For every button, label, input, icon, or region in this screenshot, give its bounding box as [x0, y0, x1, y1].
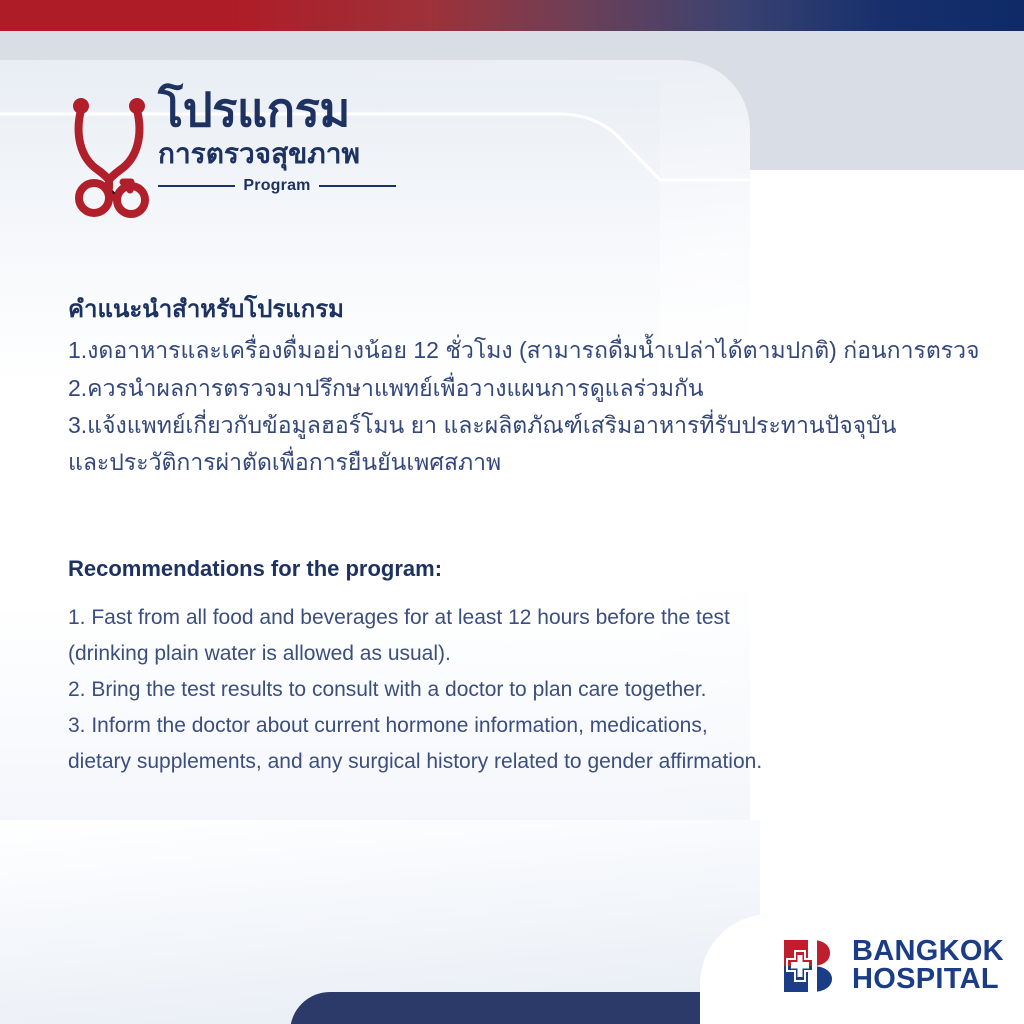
program-logo-thai-subtitle: การตรวจสุขภาพ: [158, 140, 398, 168]
thai-section-heading: คำแนะนำสำหรับโปรแกรม: [68, 294, 948, 326]
english-line-5: dietary supplements, and any surgical hi…: [68, 744, 948, 780]
bangkok-hospital-b-cross-icon: [782, 938, 840, 994]
thai-line-2: 2.ควรนำผลการตรวจมาปรึกษาแพทย์เพื่อวางแผน…: [68, 370, 948, 407]
program-logo-thai-title: โปรแกรม: [158, 86, 398, 133]
hospital-word-line1: BANGKOK: [852, 938, 1004, 966]
program-rule-left: [158, 185, 235, 187]
hospital-word-line2: HOSPITAL: [852, 966, 1004, 994]
english-section: Recommendations for the program: 1. Fast…: [68, 555, 948, 780]
program-logo-english-row: Program: [158, 177, 396, 195]
program-logo-english-word: Program: [243, 177, 310, 195]
thai-line-1: 1.งดอาหารและเครื่องดื่มอย่างน้อย 12 ชั่ว…: [68, 332, 948, 369]
english-line-2: (drinking plain water is allowed as usua…: [68, 636, 948, 672]
thai-line-3: 3.แจ้งแพทย์เกี่ยวกับข้อมูลฮอร์โมน ยา และ…: [68, 407, 948, 444]
bangkok-hospital-wordmark: BANGKOK HOSPITAL: [852, 938, 1004, 994]
stethoscope-gender-icon: [68, 86, 150, 218]
english-section-heading: Recommendations for the program:: [68, 555, 948, 584]
bottom-navy-bar: [290, 992, 750, 1024]
bangkok-hospital-logo: BANGKOK HOSPITAL: [782, 938, 1004, 994]
poster-canvas: โปรแกรม การตรวจสุขภาพ Program คำแนะนำสำห…: [0, 0, 1024, 1024]
english-line-3: 2. Bring the test results to consult wit…: [68, 672, 948, 708]
program-logo-text: โปรแกรม การตรวจสุขภาพ Program: [158, 86, 398, 195]
top-gradient-bar: [0, 0, 1024, 31]
english-line-4: 3. Inform the doctor about current hormo…: [68, 708, 948, 744]
program-rule-right: [319, 185, 396, 187]
english-line-1: 1. Fast from all food and beverages for …: [68, 600, 948, 636]
thai-line-4: และประวัติการผ่าตัดเพื่อการยืนยันเพศสภาพ: [68, 444, 948, 481]
content-body: คำแนะนำสำหรับโปรแกรม 1.งดอาหารและเครื่อง…: [68, 294, 948, 781]
program-logo: โปรแกรม การตรวจสุขภาพ Program: [68, 86, 398, 228]
